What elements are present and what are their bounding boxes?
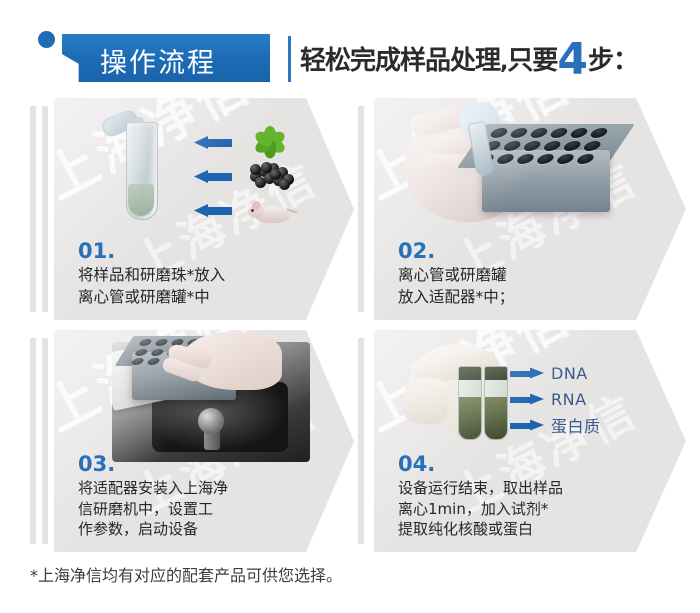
steps-grid: 上海净信 上海净信 <box>0 98 700 553</box>
step-caption: 02. 离心管或研磨罐 放入适配器*中； <box>398 241 628 308</box>
step-caption: 04. 设备运行结束，取出样品 离心1min，加入试剂* 提取纯化核酸或蛋白 <box>398 454 628 540</box>
stripe-decoration <box>30 106 36 312</box>
step-card-body: 上海净信 上海净信 DNA <box>374 330 686 552</box>
finger-shape <box>402 377 449 426</box>
stripe-decoration <box>42 338 48 544</box>
step-description: 设备运行结束，取出样品 离心1min，加入试剂* 提取纯化核酸或蛋白 <box>398 478 628 540</box>
header-tagline: 轻松完成样品处理,只要4步： <box>300 37 639 86</box>
header-divider <box>288 36 291 82</box>
step-number: 04. <box>398 454 628 475</box>
leaf-sample-icon <box>250 124 290 160</box>
sample-vial-icon <box>484 366 508 440</box>
output-label-protein: 蛋白质 <box>551 413 601 437</box>
step-card-4: 上海净信 上海净信 DNA <box>358 330 688 552</box>
tagline-post: 步 <box>588 46 613 76</box>
grinding-beads-icon <box>248 162 294 188</box>
step-card-3: 上海净信 上海净信 <box>28 330 358 552</box>
output-row: DNA <box>510 360 588 386</box>
stripe-decoration <box>42 106 48 312</box>
step-card-body: 上海净信 上海净信 <box>54 98 354 320</box>
arrow-right-icon <box>510 368 544 379</box>
step-description: 将样品和研磨珠*放入 离心管或研磨罐*中 <box>78 265 296 308</box>
tagline-colon: ： <box>613 46 639 76</box>
arrow-left-icon <box>194 204 232 217</box>
step-card-body: 上海净信 上海净信 <box>374 98 686 320</box>
tagline-pre: 轻松完成样品处理 <box>300 46 500 76</box>
step-2-illustration <box>374 98 686 248</box>
output-row: 蛋白质 <box>510 412 601 438</box>
step-card-body: 上海净信 上海净信 <box>54 330 354 552</box>
step-card-1: 上海净信 上海净信 <box>28 98 358 320</box>
output-label-rna: RNA <box>551 390 587 409</box>
stripe-decoration <box>30 338 36 544</box>
step-number: 01. <box>78 241 296 262</box>
machine-ball-joint <box>198 408 224 434</box>
sample-vial-icon <box>458 366 482 440</box>
header: 操作流程 轻松完成样品处理,只要4步： <box>0 0 700 96</box>
step-description: 离心管或研磨罐 放入适配器*中； <box>398 265 628 308</box>
stripe-decoration <box>358 338 364 544</box>
step-description: 将适配器安装入上海净 信研磨机中，设置工 作参数，启动设备 <box>78 478 296 540</box>
mouse-tissue-icon <box>248 198 296 226</box>
arrow-left-icon <box>194 136 232 149</box>
footer-note: *上海净信均有对应的配套产品可供您选择。 <box>30 562 342 586</box>
accent-dot-icon <box>38 31 55 48</box>
output-list: DNA RNA 蛋白质 <box>510 360 670 444</box>
step-card-2: 上海净信 上海净信 <box>358 98 688 320</box>
output-row: RNA <box>510 386 587 412</box>
step-caption: 01. 将样品和研磨珠*放入 离心管或研磨罐*中 <box>78 241 296 308</box>
arrow-left-icon <box>194 170 232 183</box>
arrow-right-icon <box>510 420 544 431</box>
step-1-illustration <box>54 98 354 248</box>
step-caption: 03. 将适配器安装入上海净 信研磨机中，设置工 作参数，启动设备 <box>78 454 296 540</box>
section-title: 操作流程 <box>100 41 216 80</box>
hand-icon <box>182 332 282 390</box>
tube-liquid <box>128 184 154 216</box>
arrow-right-icon <box>510 394 544 405</box>
tagline-step-count: 4 <box>557 34 588 85</box>
output-label-dna: DNA <box>551 364 588 383</box>
step-number: 03. <box>78 454 296 475</box>
promo-infographic: 操作流程 轻松完成样品处理,只要4步： 上海净信 上海净信 <box>0 0 700 613</box>
stripe-decoration <box>358 106 364 312</box>
tagline-mid: 只要 <box>507 46 557 76</box>
step-number: 02. <box>398 241 628 262</box>
